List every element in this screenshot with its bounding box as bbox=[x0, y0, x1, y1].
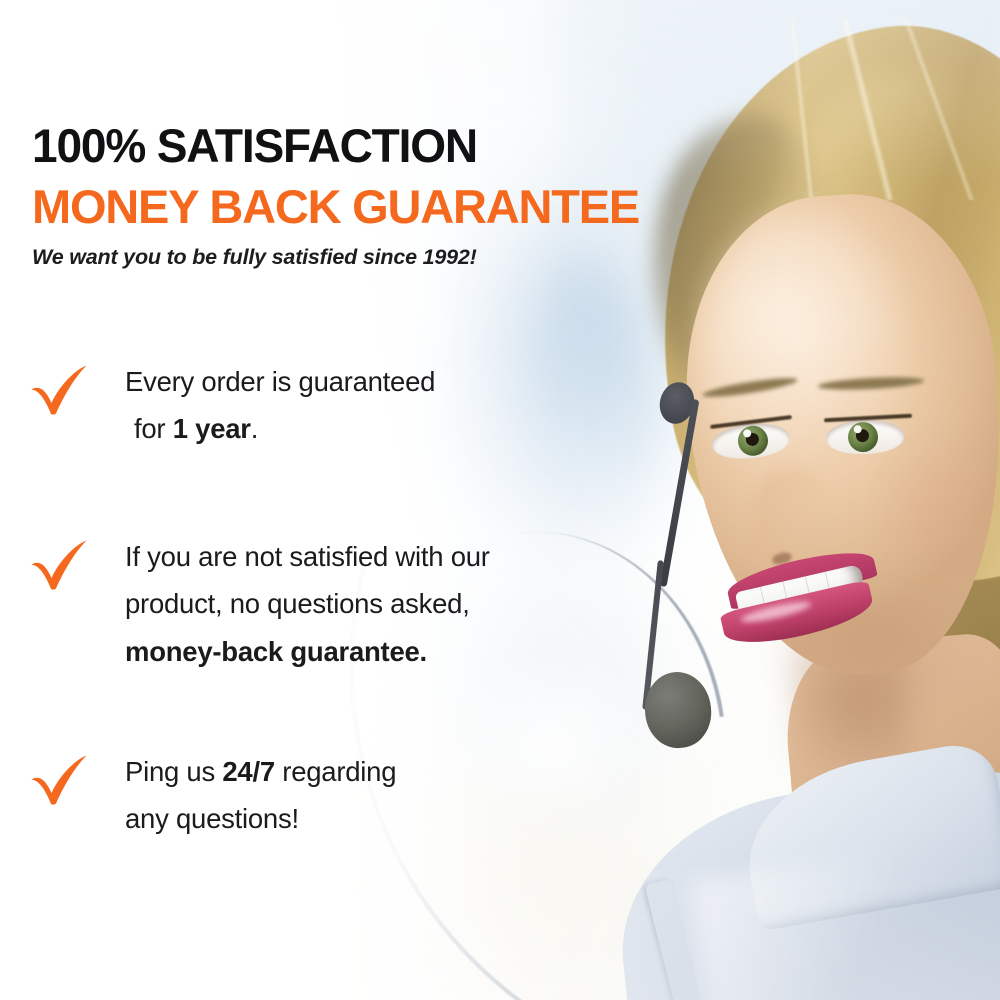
list-item-text: If you are not satisfied with our produc… bbox=[125, 533, 490, 675]
orange-checkmark-icon bbox=[30, 754, 88, 806]
list-item-text: Every order is guaranteed for 1 year. bbox=[125, 358, 435, 453]
list-item-line: for 1 year. bbox=[125, 405, 435, 452]
orange-checkmark-icon bbox=[30, 539, 88, 591]
list-item-line: Ping us 24/7 regarding bbox=[125, 748, 396, 795]
list-item-line: any questions! bbox=[125, 795, 396, 842]
list-item-line: Every order is guaranteed bbox=[125, 358, 435, 405]
list-item-line: If you are not satisfied with our bbox=[125, 533, 490, 580]
list-item-line: money-back guarantee. bbox=[125, 628, 490, 675]
headline-primary: 100% SATISFACTION bbox=[32, 122, 477, 169]
orange-checkmark-icon bbox=[30, 364, 88, 416]
banner-content: 100% SATISFACTION MONEY BACK GUARANTEE W… bbox=[0, 0, 1000, 1000]
list-item-text: Ping us 24/7 regarding any questions! bbox=[125, 748, 396, 843]
headline-accent: MONEY BACK GUARANTEE bbox=[32, 183, 639, 230]
subtitle: We want you to be fully satisfied since … bbox=[32, 245, 477, 270]
list-item-line: product, no questions asked, bbox=[125, 580, 490, 627]
satisfaction-guarantee-banner: 100% SATISFACTION MONEY BACK GUARANTEE W… bbox=[0, 0, 1000, 1000]
